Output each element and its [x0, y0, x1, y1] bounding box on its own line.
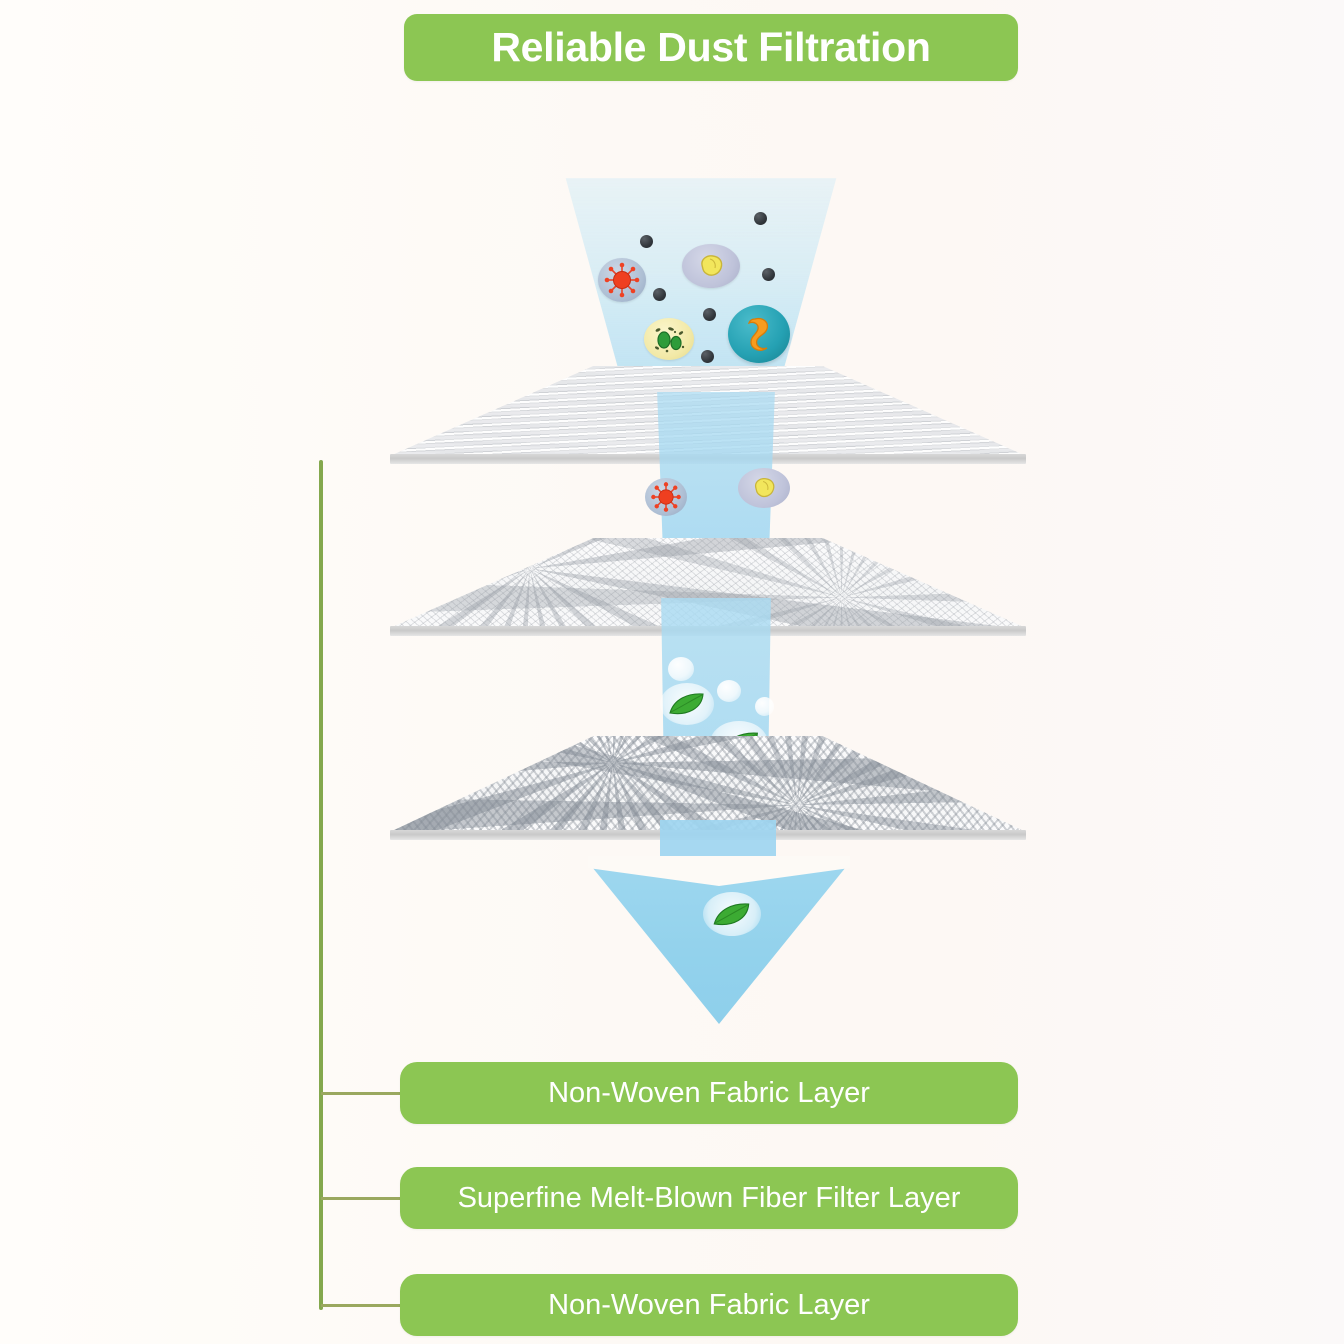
leaf-marker-upper [660, 683, 714, 725]
layer-label-1-text: Non-Woven Fabric Layer [548, 1077, 870, 1110]
leaf-icon [668, 692, 706, 716]
layer-label-3-text: Non-Woven Fabric Layer [548, 1289, 870, 1322]
clean-airflow-arrow [588, 862, 850, 1024]
dust-dot-icon [754, 212, 767, 225]
page-title-pill: Reliable Dust Filtration [404, 14, 1018, 81]
dust-dot-icon [653, 288, 666, 301]
layer-bracket-spine [319, 460, 323, 1310]
layer-bracket-branch-2 [321, 1197, 403, 1200]
layer-3-surface [390, 736, 1026, 832]
pollen-icon [738, 468, 790, 508]
leaf-marker-arrow [703, 892, 761, 936]
bubble-icon [717, 680, 741, 702]
dust-dot-icon [701, 350, 714, 363]
layer-label-1: Non-Woven Fabric Layer [400, 1062, 1018, 1124]
layer-label-2-text: Superfine Melt-Blown Fiber Filter Layer [458, 1182, 961, 1215]
dust-dot-icon [640, 235, 653, 248]
layer-label-2: Superfine Melt-Blown Fiber Filter Layer [400, 1167, 1018, 1229]
microbe-icon [728, 305, 790, 363]
layer-bracket-branch-3 [321, 1304, 403, 1307]
bubble-icon [755, 697, 774, 716]
dust-dot-icon [762, 268, 775, 281]
pollen-icon [682, 244, 740, 288]
virus-icon [598, 258, 646, 302]
virus-icon [645, 478, 687, 516]
page-title: Reliable Dust Filtration [491, 24, 930, 71]
bacteria-icon [644, 318, 694, 360]
bubble-icon [668, 657, 694, 681]
leaf-icon [712, 902, 752, 927]
dust-dot-icon [703, 308, 716, 321]
layer-bracket-branch-1 [321, 1092, 403, 1095]
layer-label-3: Non-Woven Fabric Layer [400, 1274, 1018, 1336]
infographic-canvas: Reliable Dust Filtration [0, 0, 1344, 1344]
